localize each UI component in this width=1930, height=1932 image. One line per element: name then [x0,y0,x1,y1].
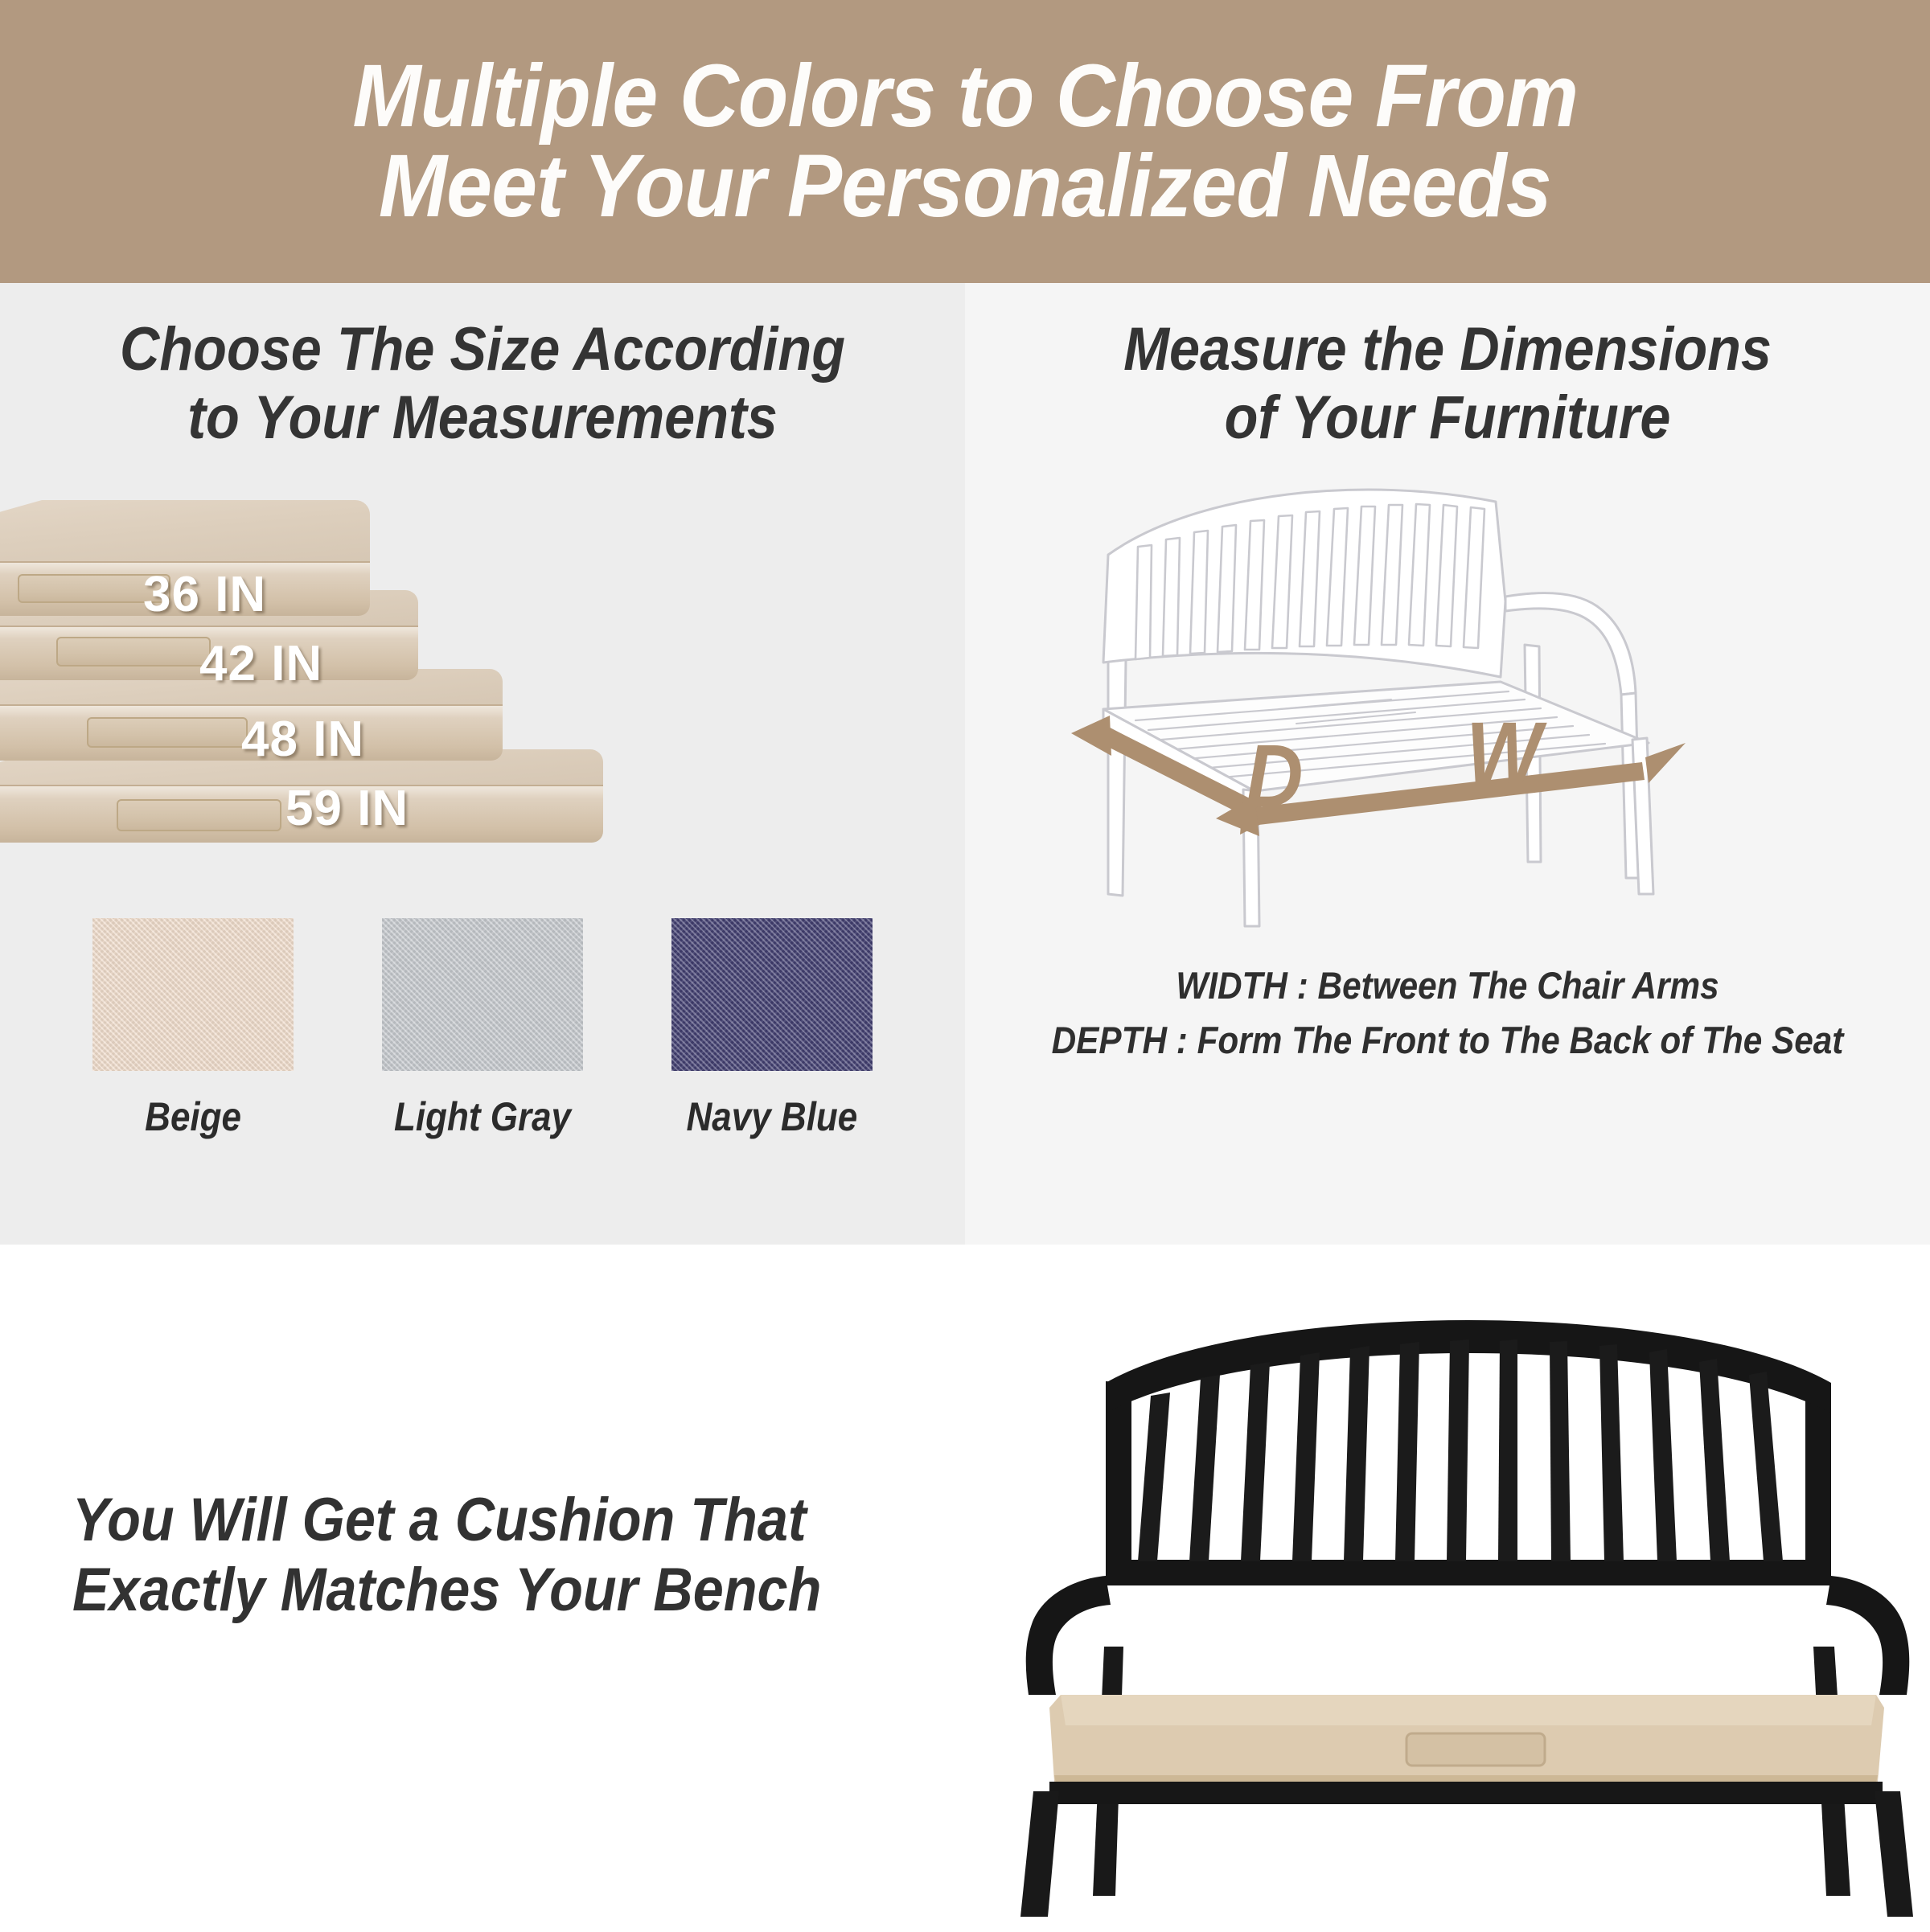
cushion-59in-handle [117,799,281,831]
header-banner: Multiple Colors to Choose From Meet Your… [0,0,1930,283]
measurement-guide-panel: Measure the Dimensions of Your Furniture [965,283,1930,1245]
left-panel-title-line-2: to Your Measurements [48,384,917,452]
measurement-note-width: WIDTH : Between The Chair Arms [1013,958,1882,1013]
bench-product-svg [1009,1261,1918,1928]
bench-outline-svg [1013,444,1882,942]
bench-seat-rail [1049,1782,1883,1804]
size-label-48in: 48 IN [241,711,364,768]
swatch-navy-blue-label: Navy Blue [687,1093,858,1140]
color-swatch-row: Beige Light Gray Navy Blue [0,918,965,1140]
bottom-tagline-line-1: You Will Get a Cushion That [72,1486,941,1556]
size-selection-panel: Choose The Size According to Your Measur… [0,283,965,1245]
bench-back-slats [1138,1339,1783,1561]
left-panel-title: Choose The Size According to Your Measur… [0,315,965,452]
swatch-light-gray-label: Light Gray [394,1093,571,1140]
cushion-48in-handle [87,717,248,748]
size-label-36in: 36 IN [143,566,266,623]
bottom-tagline-line-2: Exactly Matches Your Bench [72,1556,941,1626]
bottom-section: You Will Get a Cushion That Exactly Matc… [0,1245,1930,1930]
dimension-letter-d: D [1246,725,1304,827]
swatch-beige[interactable]: Beige [88,918,298,1140]
size-label-42in: 42 IN [199,635,322,692]
middle-band: Choose The Size According to Your Measur… [0,283,1930,1245]
swatch-light-gray[interactable]: Light Gray [378,918,587,1140]
measurement-notes: WIDTH : Between The Chair Arms DEPTH : F… [965,958,1930,1068]
right-panel-title: Measure the Dimensions of Your Furniture [965,315,1930,452]
cushion-42in-handle [56,637,211,667]
bench-outline-diagram: D W [1013,444,1882,942]
swatch-light-gray-chip[interactable] [382,918,583,1071]
right-panel-title-line-1: Measure the Dimensions [1013,315,1882,384]
measurement-note-depth: DEPTH : Form The Front to The Back of Th… [1013,1013,1882,1068]
bench-arms [1026,1576,1910,1695]
right-panel-title-line-2: of Your Furniture [1013,384,1882,452]
header-title-line-2: Meet Your Personalized Needs [379,142,1551,232]
cushion-size-stack: 36 IN 42 IN 48 IN 59 IN [0,492,965,862]
bench-legs-front [1020,1791,1913,1917]
header-title-line-1: Multiple Colors to Choose From [352,51,1578,142]
bench-seat-cushion [1049,1695,1884,1783]
cushion-36in-top [0,500,370,563]
swatch-beige-chip[interactable] [92,918,294,1071]
bottom-tagline: You Will Get a Cushion That Exactly Matc… [72,1486,1037,1625]
size-label-59in: 59 IN [285,780,409,837]
swatch-navy-blue-chip[interactable] [671,918,873,1071]
left-panel-title-line-1: Choose The Size According [48,315,917,384]
swatch-navy-blue[interactable]: Navy Blue [667,918,877,1140]
swatch-beige-label: Beige [145,1093,241,1140]
cushion-handle [1406,1733,1545,1766]
dimension-letter-w: W [1466,703,1541,805]
bench-product-photo [1009,1261,1918,1928]
